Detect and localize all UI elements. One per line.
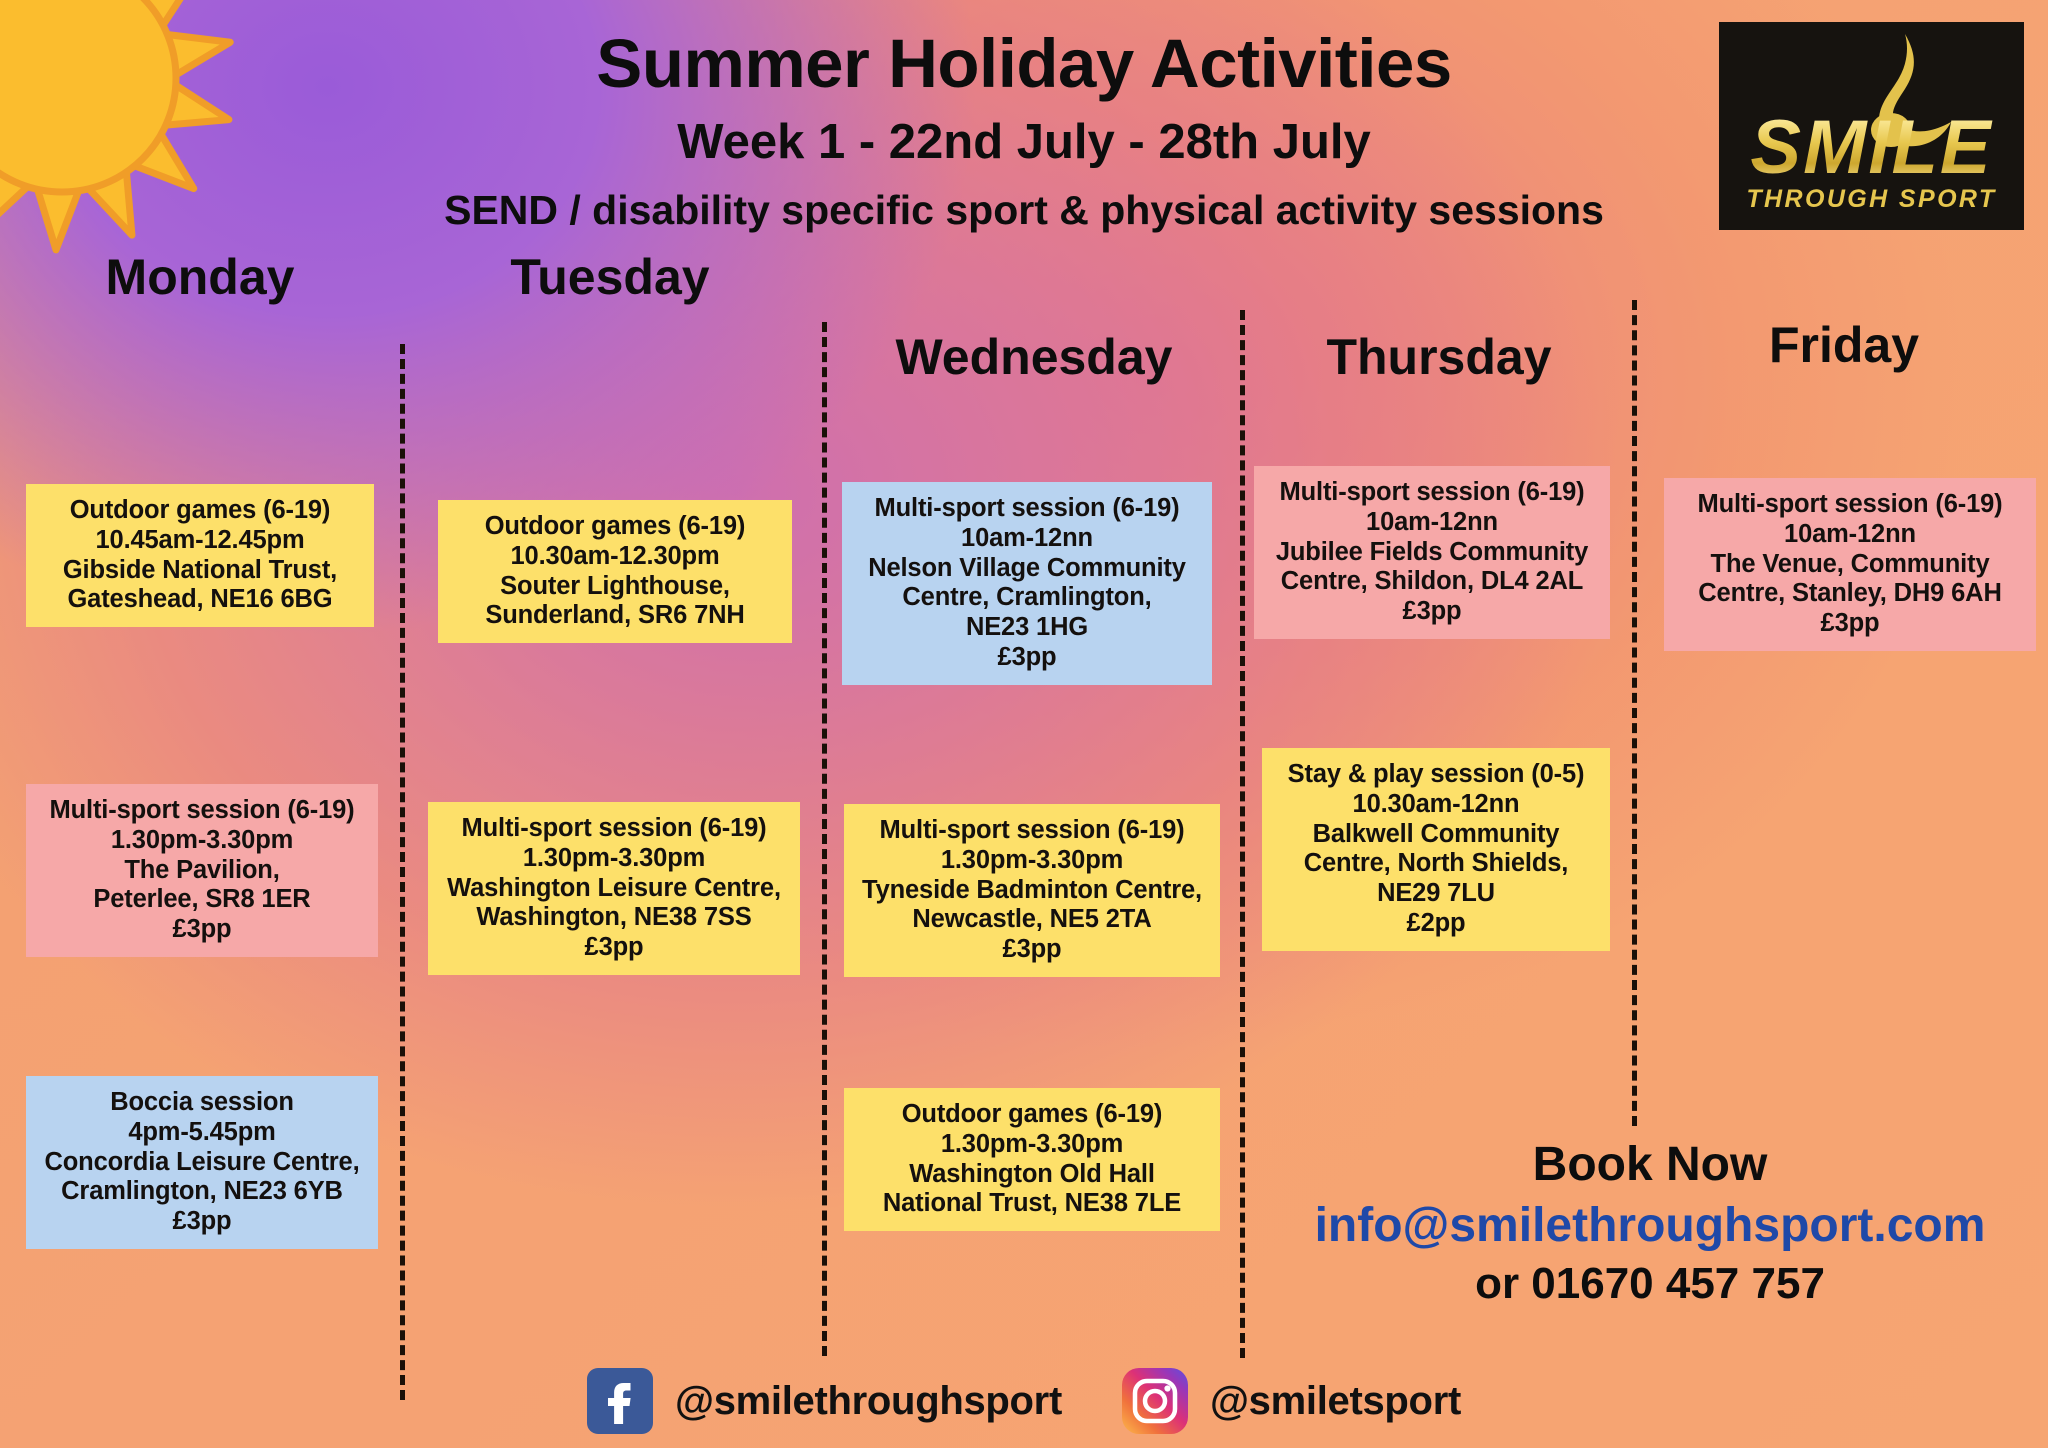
session-line: Newcastle, NE5 2TA xyxy=(854,905,1210,935)
book-now-phone[interactable]: or 01670 457 757 xyxy=(1255,1258,2045,1310)
session-line: 1.30pm-3.30pm xyxy=(36,826,368,856)
session-line: £3pp xyxy=(854,935,1210,965)
logo-tagline: THROUGH SPORT xyxy=(1746,185,1996,214)
session-card-tuesday-1[interactable]: Outdoor games (6-19) 10.30am-12.30pm Sou… xyxy=(438,500,792,643)
session-line: Multi-sport session (6-19) xyxy=(1674,490,2026,520)
session-card-wednesday-2[interactable]: Multi-sport session (6-19) 1.30pm-3.30pm… xyxy=(844,804,1220,977)
book-now-email-link[interactable]: info@smilethroughsport.com xyxy=(1255,1198,2045,1255)
session-line: £2pp xyxy=(1272,909,1600,939)
session-line: 10.30am-12.30pm xyxy=(448,542,782,572)
session-line: The Venue, Community xyxy=(1674,550,2026,580)
session-line: NE23 1HG xyxy=(852,613,1202,643)
session-line: 10am-12nn xyxy=(1264,508,1600,538)
session-card-monday-2[interactable]: Multi-sport session (6-19) 1.30pm-3.30pm… xyxy=(26,784,378,957)
day-heading-tuesday: Tuesday xyxy=(432,250,788,305)
divider-tuesday-wednesday xyxy=(822,322,827,1356)
session-line: Peterlee, SR8 1ER xyxy=(36,885,368,915)
divider-wednesday-thursday xyxy=(1240,310,1245,1358)
book-now-heading: Book Now xyxy=(1255,1138,2045,1192)
session-line: Washington Leisure Centre, xyxy=(438,874,790,904)
session-line: 1.30pm-3.30pm xyxy=(854,846,1210,876)
session-line: £3pp xyxy=(36,1207,368,1237)
session-line: 4pm-5.45pm xyxy=(36,1118,368,1148)
day-heading-friday: Friday xyxy=(1664,318,2024,373)
session-line: Centre, Cramlington, xyxy=(852,583,1202,613)
divider-monday-tuesday xyxy=(400,344,405,1400)
session-line: Nelson Village Community xyxy=(852,554,1202,584)
session-line: Gibside National Trust, xyxy=(36,556,364,586)
session-line: Cramlington, NE23 6YB xyxy=(36,1177,368,1207)
instagram-icon[interactable] xyxy=(1122,1368,1188,1434)
session-line: Multi-sport session (6-19) xyxy=(36,796,368,826)
session-line: Outdoor games (6-19) xyxy=(448,512,782,542)
logo-wordmark: SMILE xyxy=(1750,113,1992,183)
session-line: Multi-sport session (6-19) xyxy=(852,494,1202,524)
session-line: Centre, Stanley, DH9 6AH xyxy=(1674,579,2026,609)
poster-canvas: Summer Holiday Activities Week 1 - 22nd … xyxy=(0,0,2048,1448)
session-line: Concordia Leisure Centre, xyxy=(36,1148,368,1178)
instagram-social-item[interactable]: @smiletsport xyxy=(1122,1368,1461,1434)
session-line: 10am-12nn xyxy=(1674,520,2026,550)
session-line: Gateshead, NE16 6BG xyxy=(36,585,364,615)
social-footer: @smilethroughsport @smiletspo xyxy=(0,1368,2048,1434)
session-card-thursday-1[interactable]: Multi-sport session (6-19) 10am-12nn Jub… xyxy=(1254,466,1610,639)
session-line: £3pp xyxy=(1674,609,2026,639)
session-line: Jubilee Fields Community xyxy=(1264,538,1600,568)
session-line: 10am-12nn xyxy=(852,524,1202,554)
session-card-monday-3[interactable]: Boccia session 4pm-5.45pm Concordia Leis… xyxy=(26,1076,378,1249)
session-line: Tyneside Badminton Centre, xyxy=(854,876,1210,906)
day-heading-thursday: Thursday xyxy=(1256,330,1622,385)
session-line: Washington, NE38 7SS xyxy=(438,903,790,933)
session-card-wednesday-3[interactable]: Outdoor games (6-19) 1.30pm-3.30pm Washi… xyxy=(844,1088,1220,1231)
session-line: £3pp xyxy=(438,933,790,963)
day-heading-monday: Monday xyxy=(22,250,378,305)
session-line: NE29 7LU xyxy=(1272,879,1600,909)
session-line: Washington Old Hall xyxy=(854,1160,1210,1190)
day-column-friday: Friday xyxy=(1664,318,2024,373)
instagram-handle: @smiletsport xyxy=(1210,1379,1461,1424)
book-now-block: Book Now info@smilethroughsport.com or 0… xyxy=(1255,1138,2045,1310)
session-line: 10.30am-12nn xyxy=(1272,790,1600,820)
session-line: £3pp xyxy=(1264,597,1600,627)
session-card-wednesday-1[interactable]: Multi-sport session (6-19) 10am-12nn Nel… xyxy=(842,482,1212,685)
day-column-thursday: Thursday xyxy=(1256,330,1622,385)
session-line: Centre, North Shields, xyxy=(1272,849,1600,879)
day-column-monday: Monday xyxy=(22,250,378,305)
session-line: The Pavilion, xyxy=(36,856,368,886)
session-line: Stay & play session (0-5) xyxy=(1272,760,1600,790)
day-column-wednesday: Wednesday xyxy=(846,330,1222,385)
session-line: Centre, Shildon, DL4 2AL xyxy=(1264,567,1600,597)
session-line: Souter Lighthouse, xyxy=(448,572,782,602)
session-line: 1.30pm-3.30pm xyxy=(854,1130,1210,1160)
session-line: Multi-sport session (6-19) xyxy=(438,814,790,844)
facebook-social-item[interactable]: @smilethroughsport xyxy=(587,1368,1062,1434)
session-card-thursday-2[interactable]: Stay & play session (0-5) 10.30am-12nn B… xyxy=(1262,748,1610,951)
smile-through-sport-logo: SMILE THROUGH SPORT xyxy=(1719,22,2024,230)
session-line: £3pp xyxy=(852,643,1202,673)
session-line: Sunderland, SR6 7NH xyxy=(448,601,782,631)
session-line: 1.30pm-3.30pm xyxy=(438,844,790,874)
session-line: Balkwell Community xyxy=(1272,820,1600,850)
facebook-handle: @smilethroughsport xyxy=(675,1379,1062,1424)
session-line: National Trust, NE38 7LE xyxy=(854,1189,1210,1219)
session-line: Outdoor games (6-19) xyxy=(854,1100,1210,1130)
session-line: 10.45am-12.45pm xyxy=(36,526,364,556)
session-card-tuesday-2[interactable]: Multi-sport session (6-19) 1.30pm-3.30pm… xyxy=(428,802,800,975)
session-line: Boccia session xyxy=(36,1088,368,1118)
day-heading-wednesday: Wednesday xyxy=(846,330,1222,385)
session-line: £3pp xyxy=(36,915,368,945)
session-card-monday-1[interactable]: Outdoor games (6-19) 10.45am-12.45pm Gib… xyxy=(26,484,374,627)
session-card-friday-1[interactable]: Multi-sport session (6-19) 10am-12nn The… xyxy=(1664,478,2036,651)
session-line: Multi-sport session (6-19) xyxy=(854,816,1210,846)
day-column-tuesday: Tuesday xyxy=(432,250,788,305)
divider-thursday-friday xyxy=(1632,300,1637,1126)
facebook-icon[interactable] xyxy=(587,1368,653,1434)
session-line: Multi-sport session (6-19) xyxy=(1264,478,1600,508)
session-line: Outdoor games (6-19) xyxy=(36,496,364,526)
